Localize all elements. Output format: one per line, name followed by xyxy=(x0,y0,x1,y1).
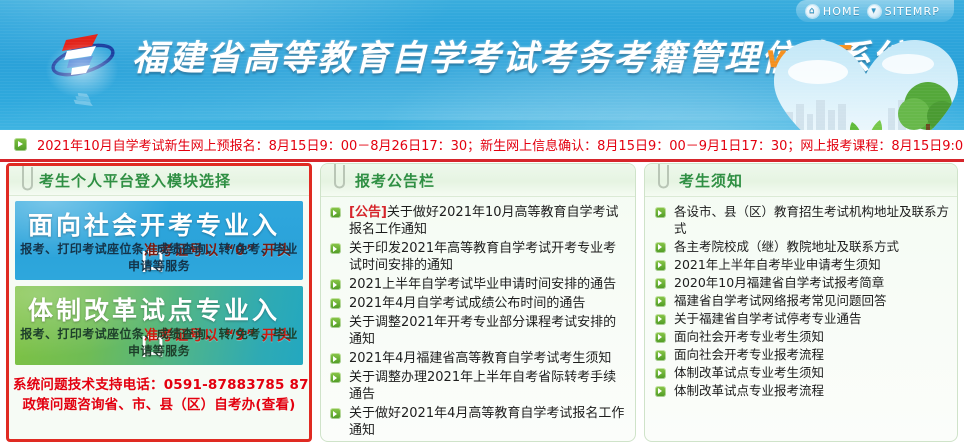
chevron-down-icon: ▾ xyxy=(868,5,881,18)
list-item-label: 2021年4月自学考试成绩公布时间的通告 xyxy=(349,296,585,311)
list-item[interactable]: 关于调整办理2021年上半年自考省际转考手续通告 xyxy=(330,369,626,403)
arrow-right-icon xyxy=(330,243,341,254)
list-item[interactable]: 关于做好2021年4月高等教育自学考试报名工作通知 xyxy=(330,405,626,439)
paperclip-icon xyxy=(19,163,35,195)
arrow-right-icon xyxy=(655,368,666,379)
top-nav[interactable]: ⌂ HOME ▾ SITEMRP xyxy=(796,0,954,22)
arrow-right-icon xyxy=(330,408,341,419)
entry-button-group: 面向社会开考专业入口 准考证号以 “0” 开头 报考、打印考试座位条、成绩查询、… xyxy=(9,196,309,365)
arrow-right-icon xyxy=(655,242,666,253)
list-item-label: 体制改革试点专业考生须知 xyxy=(674,365,824,380)
list-item-label: 2021上半年自学考试毕业申请时间安排的通告 xyxy=(349,277,616,292)
panel-candidate-notices: 考生须知 各设市、县（区）教育招生考试机构地址及联系方式各主考院校成（继）教院地… xyxy=(644,163,958,442)
arrow-right-icon xyxy=(330,353,341,364)
site-banner: ⌂ HOME ▾ SITEMRP xyxy=(0,0,964,130)
site-logo[interactable] xyxy=(46,26,120,112)
list-item-label: 关于调整2021年开考专业部分课程考试安排的通知 xyxy=(349,315,616,347)
main-columns: 考生个人平台登入模块选择 面向社会开考专业入口 准考证号以 “0” 开头 报考、… xyxy=(0,163,964,442)
arrow-right-icon xyxy=(655,314,666,325)
arrow-right-icon xyxy=(14,138,27,151)
panel-announcements-title: 报考公告栏 xyxy=(355,170,435,191)
entry-social-major-button[interactable]: 面向社会开考专业入口 准考证号以 “0” 开头 报考、打印考试座位条、成绩查询、… xyxy=(15,201,303,280)
list-item[interactable]: 面向社会开考专业考生须知 xyxy=(655,329,950,346)
arrow-right-icon xyxy=(655,278,666,289)
arrow-right-icon xyxy=(655,350,666,361)
paperclip-icon xyxy=(331,163,347,193)
list-item-tag: [公告] xyxy=(349,205,387,220)
nav-sitemap-label: SITEMRP xyxy=(885,5,940,18)
arrow-right-icon xyxy=(655,207,666,218)
entry-social-major-services: 报考、打印考试座位条、成绩查询、转/免考、毕业申请等服务 xyxy=(15,240,303,274)
panel-notices-header: 考生须知 xyxy=(645,164,957,197)
heart-illustration-icon xyxy=(768,34,964,130)
list-item-label: 福建省自学考试网络报考常见问题回答 xyxy=(674,293,887,308)
list-item-label: 面向社会开考专业报考流程 xyxy=(674,347,824,362)
list-item-label: 关于调整办理2021年上半年自考省际转考手续通告 xyxy=(349,370,616,402)
panel-login-header: 考生个人平台登入模块选择 xyxy=(9,166,309,196)
panel-login-modules: 考生个人平台登入模块选择 面向社会开考专业入口 准考证号以 “0” 开头 报考、… xyxy=(6,163,312,442)
arrow-right-icon xyxy=(330,207,341,218)
list-item[interactable]: 各主考院校成（继）教院地址及联系方式 xyxy=(655,239,950,256)
list-item-label: 2020年10月福建省自学考试报考简章 xyxy=(674,275,884,290)
list-item[interactable]: 2021上半年自学考试毕业申请时间安排的通告 xyxy=(330,276,626,293)
arrow-right-icon xyxy=(330,372,341,383)
notice-list: 各设市、县（区）教育招生考试机构地址及联系方式各主考院校成（继）教院地址及联系方… xyxy=(645,197,957,399)
support-info: 系统问题技术支持电话：0591-87883785 87881896 政策问题咨询… xyxy=(9,371,309,415)
home-icon: ⌂ xyxy=(806,5,819,18)
arrow-right-icon xyxy=(655,296,666,307)
arrow-right-icon xyxy=(330,317,341,328)
notice-text: 2021年10月自学考试新生网上预报名：8月15日9：00－8月26日17：30… xyxy=(37,135,964,154)
support-policy-link[interactable]: 政策问题咨询省、市、县（区）自考办(查看) xyxy=(22,397,295,413)
list-item[interactable]: 2020年10月福建省自学考试报考简章 xyxy=(655,275,950,292)
list-item[interactable]: 关于调整2021年开考专业部分课程考试安排的通知 xyxy=(330,314,626,348)
panel-announcements: 报考公告栏 [公告]关于做好2021年10月高等教育自学考试报名工作通知关于印发… xyxy=(320,163,636,442)
arrow-right-icon xyxy=(655,260,666,271)
panel-announcements-header: 报考公告栏 xyxy=(321,164,635,197)
list-item[interactable]: [公告]关于做好2021年10月高等教育自学考试报名工作通知 xyxy=(330,204,626,238)
list-item-label: 关于做好2021年10月高等教育自学考试报名工作通知 xyxy=(349,205,619,237)
entry-reform-pilot-button[interactable]: 体制改革试点专业入口 准考证号以 “9” 开头 报考、打印考试座位条、成绩查询、… xyxy=(15,286,303,365)
list-item-label: 关于福建省自学考试停考专业通告 xyxy=(674,311,862,326)
list-item-label: 2021年上半年自考毕业申请考生须知 xyxy=(674,257,881,272)
list-item[interactable]: 福建省自学考试网络报考常见问题回答 xyxy=(655,293,950,310)
list-item-label: 各主考院校成（继）教院地址及联系方式 xyxy=(674,239,899,254)
panel-notices-title: 考生须知 xyxy=(679,170,743,191)
announcement-list: [公告]关于做好2021年10月高等教育自学考试报名工作通知关于印发2021年高… xyxy=(321,197,635,442)
nav-home-link[interactable]: ⌂ HOME xyxy=(806,5,861,18)
arrow-right-icon xyxy=(330,279,341,290)
list-item-label: 关于做好2021年4月高等教育自学考试报名工作通知 xyxy=(349,406,624,438)
list-item-label: 体制改革试点专业报考流程 xyxy=(674,383,824,398)
nav-sitemap-link[interactable]: ▾ SITEMRP xyxy=(868,5,940,18)
list-item[interactable]: 体制改革试点专业报考流程 xyxy=(655,383,950,400)
panel-login-title: 考生个人平台登入模块选择 xyxy=(39,170,231,191)
nav-home-label: HOME xyxy=(823,5,861,18)
banner-heart-artwork xyxy=(760,30,964,130)
list-item-label: 各设市、县（区）教育招生考试机构地址及联系方式 xyxy=(674,204,949,236)
list-item[interactable]: 面向社会开考专业报考流程 xyxy=(655,347,950,364)
entry-reform-pilot-services: 报考、打印考试座位条、成绩查询、转/免考、毕业申请等服务 xyxy=(15,325,303,359)
notice-marquee[interactable]: 2021年10月自学考试新生网上预报名：8月15日9：00－8月26日17：30… xyxy=(0,130,964,162)
list-item[interactable]: 关于印发2021年高等教育自学考试开考专业考试时间安排的通知 xyxy=(330,240,626,274)
list-item-label: 2021年4月福建省高等教育自学考试考生须知 xyxy=(349,351,611,366)
list-item-label: 关于印发2021年高等教育自学考试开考专业考试时间安排的通知 xyxy=(349,241,616,273)
arrow-right-icon xyxy=(655,386,666,397)
support-phone-line: 系统问题技术支持电话：0591-87883785 87881896 xyxy=(13,375,305,395)
list-item-label: 面向社会开考专业考生须知 xyxy=(674,329,824,344)
arrow-right-icon xyxy=(330,298,341,309)
list-item[interactable]: 各设市、县（区）教育招生考试机构地址及联系方式 xyxy=(655,204,950,237)
list-item[interactable]: 2021年上半年自考毕业申请考生须知 xyxy=(655,257,950,274)
paperclip-icon xyxy=(655,163,671,193)
list-item[interactable]: 2021年4月自学考试成绩公布时间的通告 xyxy=(330,295,626,312)
support-policy-line[interactable]: 政策问题咨询省、市、县（区）自考办(查看) xyxy=(13,395,305,415)
list-item[interactable]: 关于福建省自学考试停考专业通告 xyxy=(655,311,950,328)
list-item[interactable]: 体制改革试点专业考生须知 xyxy=(655,365,950,382)
logo-reflection xyxy=(60,85,110,115)
arrow-right-icon xyxy=(655,332,666,343)
page-root: ⌂ HOME ▾ SITEMRP xyxy=(0,0,964,442)
list-item[interactable]: 2021年4月福建省高等教育自学考试考生须知 xyxy=(330,350,626,367)
